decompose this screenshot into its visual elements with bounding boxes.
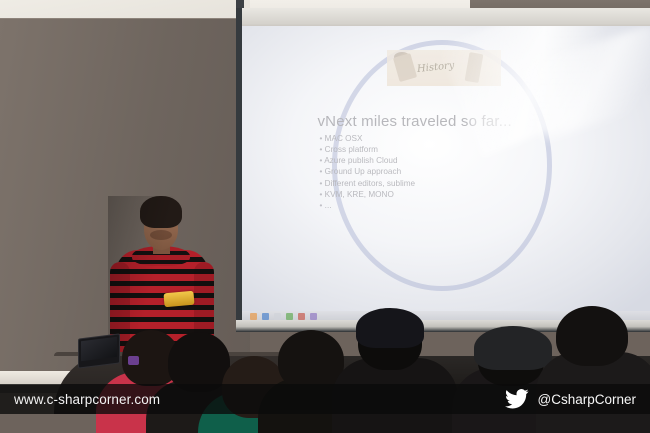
slide-bullet: MAC OSX: [320, 133, 416, 144]
taskbar-icon: [250, 313, 257, 320]
slide-bullet: Ground Up approach: [320, 166, 416, 177]
slide-bullet-list: MAC OSX Cross platform Azure publish Clo…: [320, 133, 416, 211]
audience-head: [168, 332, 230, 392]
taskbar-icon: [274, 313, 281, 320]
projection-screen: History vNext miles traveled so far... M…: [242, 26, 650, 322]
audience-head: [556, 306, 628, 366]
purple-hair-clip: [128, 356, 139, 365]
black-beanie-icon: [356, 308, 424, 348]
twitter-bird-icon: [504, 389, 530, 409]
taskbar-icon: [310, 313, 317, 320]
slide-bullet: ...: [320, 200, 416, 211]
speaker-hair: [140, 196, 182, 228]
social-handle-group: @CsharpCorner: [504, 389, 637, 409]
laptop-screen: [81, 337, 117, 361]
taskbar-icon: [286, 313, 293, 320]
laptop: [78, 333, 120, 368]
presentation-photo: History vNext miles traveled so far... M…: [0, 0, 650, 433]
taskbar-icon: [262, 313, 269, 320]
taskbar-icon: [298, 313, 305, 320]
hoodie-logo: [163, 291, 194, 308]
slide-bullet: Different editors, sublime: [320, 178, 416, 189]
scroll-left: [393, 53, 417, 82]
audience-head: [278, 330, 344, 390]
slide-bullet: KVM, KRE, MONO: [320, 189, 416, 200]
slide-bullet: Azure publish Cloud: [320, 155, 416, 166]
website-url: www.c-sharpcorner.com: [14, 392, 160, 407]
slide-bullet: Cross platform: [320, 144, 416, 155]
flat-cap-icon: [474, 326, 552, 370]
twitter-handle: @CsharpCorner: [538, 392, 637, 407]
watermark-bar: www.c-sharpcorner.com @CsharpCorner: [0, 384, 650, 414]
